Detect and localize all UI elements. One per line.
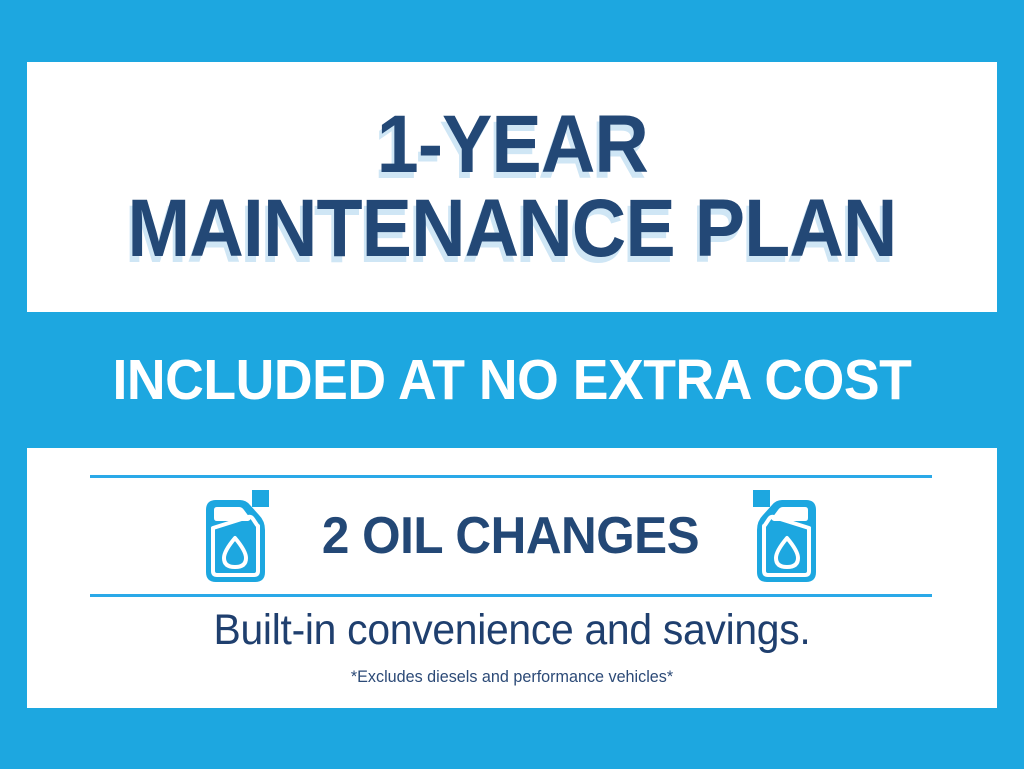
detail-card: 2 OIL CHANGES Built-in convenience and s… — [27, 448, 997, 708]
tagline: Built-in convenience and savings. — [51, 606, 973, 655]
offer-title: 2 OIL CHANGES — [322, 506, 699, 566]
divider-bottom — [90, 594, 932, 597]
maintenance-plan-poster: 1-YEAR MAINTENANCE PLAN INCLUDED AT NO E… — [0, 0, 1024, 769]
headline-card: 1-YEAR MAINTENANCE PLAN — [27, 62, 997, 312]
offer-row: 2 OIL CHANGES — [90, 480, 932, 592]
divider-top — [90, 475, 932, 478]
headline-line-1: 1-YEAR — [376, 106, 647, 184]
subheading-text: INCLUDED AT NO EXTRA COST — [113, 347, 912, 413]
disclaimer: *Excludes diesels and performance vehicl… — [51, 667, 973, 687]
headline-line-2: MAINTENANCE PLAN — [127, 190, 896, 268]
oil-jug-icon-left — [196, 488, 272, 584]
subheading-band: INCLUDED AT NO EXTRA COST — [0, 312, 1024, 448]
oil-jug-icon-right — [750, 488, 826, 584]
